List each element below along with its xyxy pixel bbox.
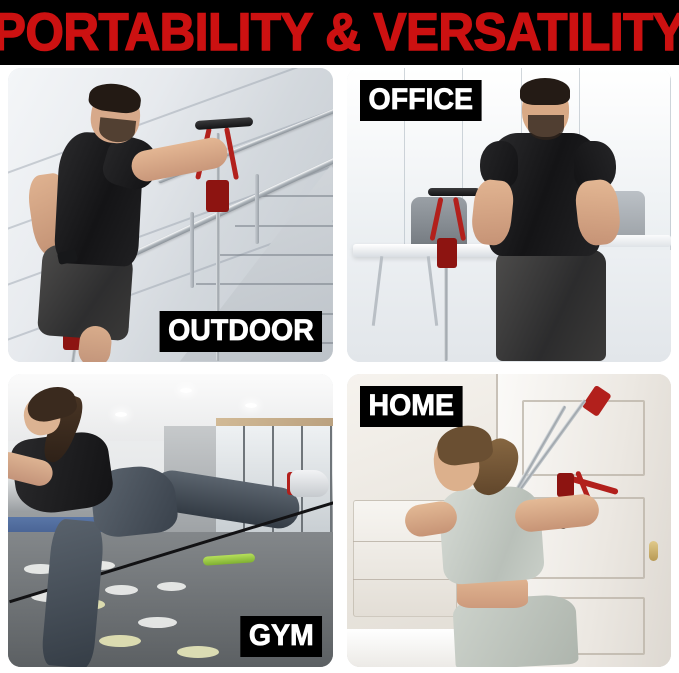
athlete-shorts xyxy=(496,250,606,362)
floor-marker-dot xyxy=(157,582,186,591)
cabinet-seam xyxy=(353,579,457,580)
wood-trim xyxy=(216,418,333,427)
panel-outdoor[interactable]: OUTDOOR xyxy=(8,68,333,362)
panel-grid: OUTDOOR xyxy=(8,68,671,667)
panel-label-outdoor: OUTDOOR xyxy=(160,311,323,352)
athlete-hair xyxy=(520,78,570,104)
floor-marker-dot xyxy=(105,585,137,595)
athlete-shoe xyxy=(290,470,329,496)
stair-step xyxy=(255,195,333,197)
rail-post xyxy=(190,212,194,288)
stair-step xyxy=(235,225,332,227)
panel-label-home: HOME xyxy=(360,386,463,427)
panel-label-office: OFFICE xyxy=(360,80,482,121)
kitchen-counter xyxy=(347,629,457,667)
athlete-beard xyxy=(528,115,564,140)
band-anchor-clip xyxy=(206,180,229,212)
product-infographic: PORTABILITY & VERSATILITY xyxy=(0,0,679,673)
band-handle-grip xyxy=(428,188,480,196)
door-knob xyxy=(649,541,658,561)
panel-office[interactable]: OFFICE xyxy=(347,68,672,362)
panel-gym[interactable]: GYM xyxy=(8,374,333,668)
panel-home[interactable]: HOME xyxy=(347,374,672,668)
band-anchor-clip xyxy=(437,238,456,267)
header-bar: PORTABILITY & VERSATILITY xyxy=(0,0,679,65)
ceiling-downlight xyxy=(115,412,127,417)
stair-step xyxy=(216,254,333,256)
band-anchor-clip xyxy=(557,473,573,496)
ceiling-downlight xyxy=(245,403,257,408)
rail-post xyxy=(255,174,259,244)
floor-marker-dot xyxy=(99,635,141,647)
panel-label-gym: GYM xyxy=(240,616,322,657)
page-title: PORTABILITY & VERSATILITY xyxy=(0,6,679,59)
